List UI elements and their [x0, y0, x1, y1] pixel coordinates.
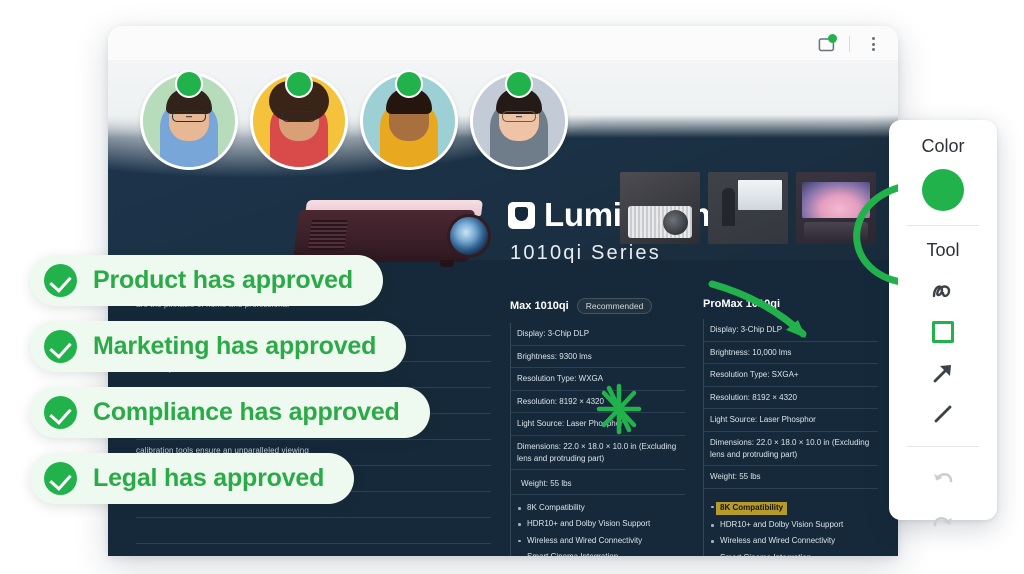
- green-arrow-annotation: [708, 278, 818, 348]
- toolbar-actions: [815, 33, 884, 55]
- thumbnail-strip: [620, 172, 876, 244]
- spec-row: Dimensions: 22.0 × 18.0 × 10.0 in (Exclu…: [511, 436, 685, 470]
- reviewer-avatars: [140, 72, 568, 170]
- spec-table: Display: 3-Chip DLP Brightness: 10,000 l…: [703, 319, 878, 556]
- check-circle-icon: [44, 462, 77, 495]
- color-section-label: Color: [889, 136, 997, 157]
- annotation-tool-panel: Color Tool: [889, 120, 997, 520]
- approval-label: Marketing has approved: [93, 332, 376, 361]
- kebab-menu-icon[interactable]: [862, 33, 884, 55]
- spec-row: Display: 3-Chip DLP: [511, 323, 685, 346]
- tool-section-label: Tool: [889, 240, 997, 261]
- spec-bullet: HDR10+ and Dolby Vision Support: [720, 520, 872, 531]
- check-circle-icon: [44, 396, 77, 429]
- tool-list: [889, 273, 997, 432]
- history-controls: [889, 461, 997, 541]
- window-toolbar: [108, 26, 898, 60]
- spec-row: Weight: 55 lbs: [704, 466, 878, 489]
- check-circle-icon: [44, 330, 77, 363]
- spec-row: Resolution Type: SXGA+: [704, 364, 878, 387]
- notes-icon[interactable]: [815, 33, 837, 55]
- panel-divider: [907, 225, 979, 226]
- green-starburst-annotation: [596, 383, 642, 435]
- notes-badge: [828, 34, 837, 43]
- toolbar-divider: [849, 36, 850, 52]
- rectangle-tool[interactable]: [923, 314, 963, 350]
- approval-label: Compliance has approved: [93, 398, 400, 427]
- status-dot: [505, 70, 533, 98]
- freehand-tool[interactable]: [923, 273, 963, 309]
- spec-row: Dimensions: 22.0 × 18.0 × 10.0 in (Exclu…: [704, 432, 878, 466]
- check-circle-icon: [44, 264, 77, 297]
- spec-row: Brightness: 9300 lms: [511, 346, 685, 369]
- avatar[interactable]: [470, 72, 568, 170]
- brand-subtitle: 1010qi Series: [510, 242, 710, 265]
- avatar[interactable]: [140, 72, 238, 170]
- recommended-badge: Recommended: [577, 298, 653, 314]
- spec-bullet: HDR10+ and Dolby Vision Support: [527, 519, 679, 530]
- approval-toast-marketing[interactable]: Marketing has approved: [30, 321, 406, 372]
- spec-comparison: Max 1010qi Recommended Display: 3-Chip D…: [510, 298, 878, 556]
- spec-bullet-highlighted: 8K Compatibility: [716, 502, 787, 515]
- arrow-tool[interactable]: [923, 355, 963, 391]
- status-dot: [285, 70, 313, 98]
- spec-bullets: 8K Compatibility HDR10+ and Dolby Vision…: [511, 495, 685, 556]
- redo-button[interactable]: [923, 505, 963, 541]
- lumibeam-logo-icon: [508, 202, 535, 229]
- presentation-room-thumb[interactable]: [708, 172, 788, 244]
- approval-label: Legal has approved: [93, 464, 324, 493]
- spec-row: Resolution: 8192 × 4320: [704, 387, 878, 410]
- spec-bullet: Smart Cinema Integration: [720, 553, 872, 556]
- spec-bullets: 8K Compatibility HDR10+ and Dolby Vision…: [704, 489, 878, 556]
- spec-bullet: Wireless and Wired Connectivity: [527, 536, 679, 547]
- spec-row: Light Source: Laser Phosphor: [704, 409, 878, 432]
- status-dot: [395, 70, 423, 98]
- approval-toasts: Product has approved Marketing has appro…: [30, 255, 430, 519]
- screenshot-root: LumiBeam 1010qi Series: [0, 0, 1024, 574]
- undo-button[interactable]: [923, 461, 963, 497]
- avatar[interactable]: [360, 72, 458, 170]
- approval-toast-compliance[interactable]: Compliance has approved: [30, 387, 430, 438]
- approval-toast-legal[interactable]: Legal has approved: [30, 453, 354, 504]
- status-dot: [175, 70, 203, 98]
- approval-toast-product[interactable]: Product has approved: [30, 255, 383, 306]
- spec-row-highlighted: Weight: 55 lbs: [517, 477, 576, 490]
- spec-bullet: 8K Compatibility: [527, 503, 679, 514]
- spec-bullet: Smart Cinema Integration: [527, 552, 679, 556]
- panel-divider: [907, 446, 979, 447]
- line-tool[interactable]: [923, 396, 963, 432]
- spec-bullet: Wireless and Wired Connectivity: [720, 536, 872, 547]
- avatar[interactable]: [250, 72, 348, 170]
- spec-title: Max 1010qi: [510, 300, 569, 312]
- spec-table: Display: 3-Chip DLP Brightness: 9300 lms…: [510, 323, 685, 556]
- approval-label: Product has approved: [93, 266, 353, 295]
- color-swatch-green[interactable]: [922, 169, 964, 211]
- projector-closeup-thumb[interactable]: [620, 172, 700, 244]
